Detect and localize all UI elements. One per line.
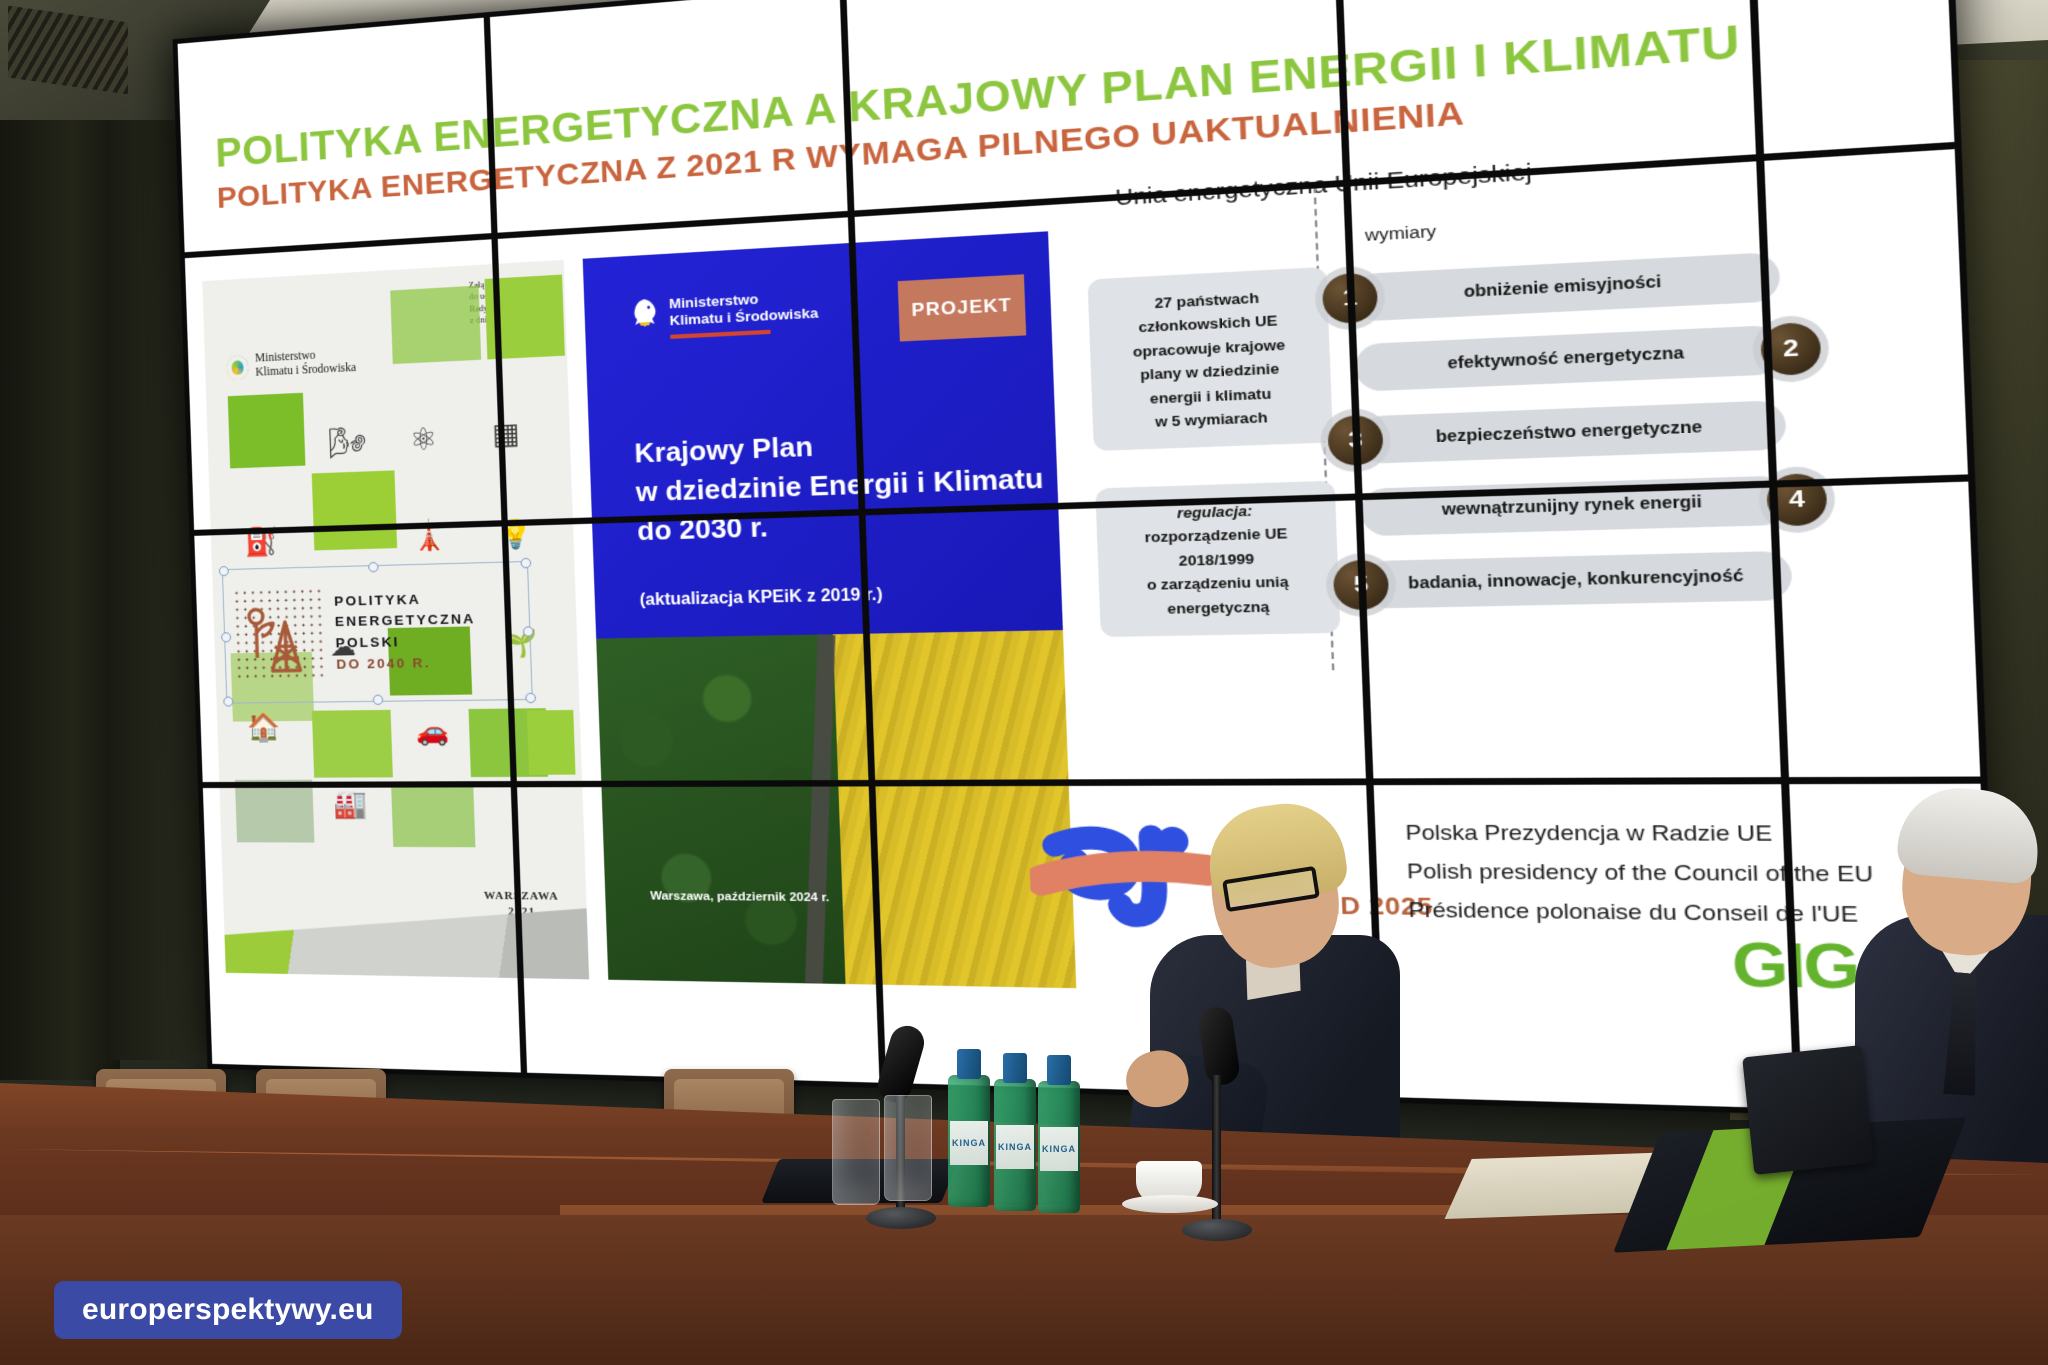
eu-energy-union-diagram: Unia energetyczna Unii Europejskiej wymi… [1062, 103, 1959, 775]
gig-mark-text: GIG [1731, 937, 1859, 996]
center-slide-kpeik[interactable]: Ministerstwo Klimatu i Środowiska PROJEK… [583, 231, 1077, 988]
eu-info-box-regulation: regulacja: rozporządzenie UE 2018/1999 o… [1095, 481, 1340, 637]
mosaic-tile [391, 783, 475, 847]
ministry-emblem-icon [226, 355, 248, 380]
microphone-base [866, 1207, 936, 1229]
dimension-row: bezpieczeństwo energetyczne [1357, 400, 1787, 464]
cup-saucer [1122, 1195, 1218, 1213]
center-slide-subtitle: (aktualizacja KPEiK z 2019 r.) [639, 586, 883, 611]
pep2040-mark-icon [232, 587, 327, 682]
eco-house-icon: 🏠 [246, 711, 280, 744]
watermark-badge: europerspektywy.eu [54, 1281, 402, 1339]
wind-turbine-icon: 🌬 [328, 425, 368, 462]
bottle-cap [957, 1049, 981, 1079]
bottle-label: KINGA [950, 1121, 988, 1165]
video-wall-screen: POLITYKA ENERGETYCZNA A KRAJOWY PLAN ENE… [173, 0, 2002, 1120]
dimension-row: efektywność energetyczna [1354, 325, 1783, 392]
bottle-cap [1047, 1055, 1071, 1085]
eu-dimensions-label: wymiary [1365, 222, 1437, 246]
mosaic-tile [312, 470, 397, 550]
dimension-number: 5 [1333, 559, 1390, 610]
industry-eco-icon: 🏭 [333, 788, 368, 821]
gas-valve-icon: ⛽ [244, 525, 278, 558]
microphone-base [1182, 1219, 1252, 1241]
polish-eagle-icon [629, 296, 660, 329]
mosaic-tile [235, 780, 314, 843]
eu-info-box-countries: 27 państwach członkowskich UE opracowuje… [1087, 267, 1333, 452]
ministry-logo-left: Ministerstwo Klimatu i Środowiska [226, 348, 356, 382]
microphone-stem [1212, 1075, 1221, 1235]
mosaic-tile [390, 286, 481, 365]
dimension-number: 4 [1766, 473, 1828, 527]
center-slide-heading: Krajowy Plan w dziedzinie Energii i Klim… [634, 418, 1046, 550]
screenshot-root: POLITYKA ENERGETYCZNA A KRAJOWY PLAN ENE… [0, 0, 2048, 1365]
dimension-number: 2 [1760, 322, 1822, 376]
mosaic-tile [485, 275, 565, 360]
dimension-row: badania, innowacje, konkurencyjność [1363, 551, 1793, 609]
tablet-device[interactable] [1742, 1045, 1874, 1175]
lightbulb-icon: 💡 [497, 517, 533, 551]
pep2040-logo-text: POLITYKA ENERGETYCZNA POLSKI DO 2040 R. [334, 588, 478, 675]
bottle-cap [1003, 1053, 1027, 1083]
eu-diagram-title: Unia energetyczna Unii Europejskiej [1115, 159, 1533, 212]
mosaic-tile [527, 710, 576, 775]
dimension-number: 1 [1322, 272, 1379, 324]
atom-icon: ⚛ [409, 422, 438, 459]
bottle-label: KINGA [996, 1125, 1034, 1169]
ministry-center-text: Ministerstwo Klimatu i Środowiska [669, 288, 819, 330]
water-bottle[interactable]: KINGA [1038, 1081, 1080, 1213]
ministry-logo-text: Ministerstwo Klimatu i Środowiska [255, 348, 357, 380]
wall-pillar-left [0, 120, 120, 1080]
watermark-text: europerspektywy.eu [82, 1293, 374, 1327]
ministry-logo-center: Ministerstwo Klimatu i Środowiska [629, 288, 819, 341]
mosaic-tile [228, 393, 306, 469]
attendee-hair [1895, 783, 2042, 885]
drinking-glass[interactable] [832, 1099, 880, 1205]
drinking-glass[interactable] [884, 1095, 932, 1201]
solar-panel-icon: ▦ [492, 416, 521, 451]
video-wall[interactable]: POLITYKA ENERGETYCZNA A KRAJOWY PLAN ENE… [173, 0, 2002, 1120]
water-bottle[interactable]: KINGA [994, 1079, 1036, 1211]
pep2040-logo[interactable]: POLITYKA ENERGETYCZNA POLSKI DO 2040 R. [232, 570, 516, 694]
ministry-rule [670, 330, 771, 339]
power-tower-icon: 🗼 [410, 518, 447, 553]
left-slide-pep2040[interactable]: Załącznik do uchwały nr 22/2021 Rady Min… [202, 260, 589, 980]
dimension-row: obniżenie emisyjności [1352, 252, 1781, 322]
coffee-cup[interactable] [1136, 1161, 1202, 1205]
left-slide-floor-graphic [204, 902, 589, 979]
center-slide-footer: Warszawa, październik 2024 r. [650, 890, 829, 904]
water-bottle[interactable]: KINGA [948, 1075, 990, 1207]
presidency-text: Polska Prezydencja w Radzie UE Polish pr… [1405, 815, 1876, 936]
dimension-number: 3 [1327, 415, 1384, 467]
dimension-row: wewnątrzunijny rynek energii [1360, 475, 1790, 536]
mosaic-tile [312, 710, 393, 778]
bottle-label: KINGA [1040, 1127, 1078, 1171]
center-slide-photo [596, 630, 1076, 988]
projekt-stamp: PROJEKT [898, 274, 1027, 341]
presentation-slide: POLITYKA ENERGETYCZNA A KRAJOWY PLAN ENE… [173, 0, 2002, 1120]
electric-car-icon: 🚗 [415, 715, 449, 747]
